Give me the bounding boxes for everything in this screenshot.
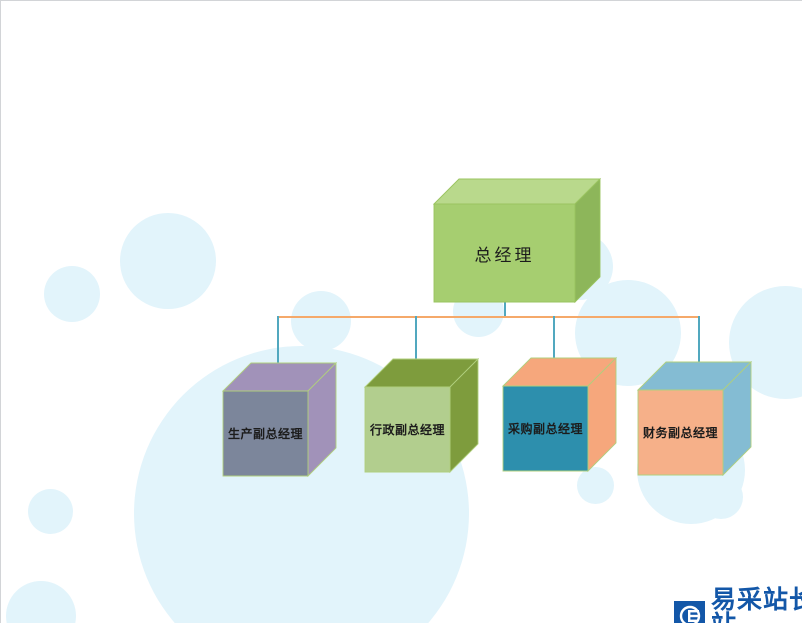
cube-front-face	[223, 391, 308, 476]
cube-front-face	[365, 387, 450, 472]
node-finance-vp[interactable]: 财务副总经理	[638, 362, 751, 475]
background-bubble	[28, 489, 73, 534]
watermark: 易采站长站 Www.Easck.Com Webmaster	[674, 587, 802, 623]
cube-front-face	[638, 390, 723, 475]
node-administration-vp[interactable]: 行政副总经理	[365, 359, 478, 472]
background-bubble	[44, 266, 100, 322]
cube-front-face	[503, 386, 588, 471]
cube-front-face	[434, 204, 575, 302]
connector-horizontal-bus	[277, 316, 699, 318]
node-production-vp[interactable]: 生产副总经理	[223, 363, 336, 476]
organization-chart-canvas: 总经理生产副总经理行政副总经理采购副总经理财务副总经理 易采站长站 Www.Ea…	[0, 0, 802, 623]
background-bubbles	[1, 1, 802, 623]
node-general-manager[interactable]: 总经理	[434, 179, 600, 302]
connector-lines	[1, 1, 802, 623]
watermark-title: 易采站长站	[711, 587, 802, 623]
background-bubble	[577, 467, 614, 504]
background-bubble	[699, 475, 743, 519]
background-bubble	[291, 291, 351, 351]
background-bubble	[6, 581, 76, 623]
node-procurement-vp[interactable]: 采购副总经理	[503, 358, 616, 471]
cube-top-face	[434, 179, 600, 204]
background-bubble	[120, 213, 216, 309]
watermark-logo-icon	[674, 601, 705, 623]
